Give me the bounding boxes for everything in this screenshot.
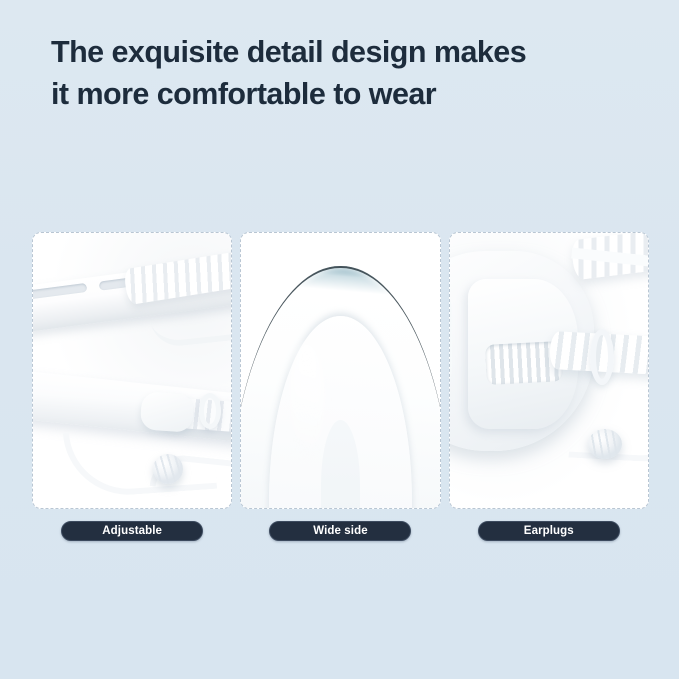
earplug-bud xyxy=(153,454,183,484)
strap-clip-ring xyxy=(590,329,614,385)
caption-slot-3: Earplugs xyxy=(449,521,649,541)
earplug-bud xyxy=(588,429,622,459)
goggle-lens-edge xyxy=(450,291,452,387)
highlight-gloss xyxy=(289,343,325,464)
page-title-line-1: The exquisite detail design makes xyxy=(51,31,651,73)
feature-panel-wide-side xyxy=(240,232,440,509)
caption-row: Adjustable Wide side Earplugs xyxy=(32,521,649,541)
page-title: The exquisite detail design makes it mor… xyxy=(51,31,651,116)
feature-panel-adjustable xyxy=(32,232,232,509)
product-photo-wide-side xyxy=(241,233,439,508)
caption-badge-wide-side: Wide side xyxy=(269,521,411,541)
caption-badge-earplugs: Earplugs xyxy=(478,521,620,541)
caption-badge-adjustable: Adjustable xyxy=(61,521,203,541)
feature-panel-earplugs xyxy=(449,232,649,509)
product-photo-earplugs xyxy=(450,233,648,508)
caption-slot-2: Wide side xyxy=(240,521,440,541)
feature-panel-group xyxy=(32,232,649,509)
page-title-line-2: it more comfortable to wear xyxy=(51,73,651,115)
caption-slot-1: Adjustable xyxy=(32,521,232,541)
product-photo-adjustable xyxy=(33,233,231,508)
